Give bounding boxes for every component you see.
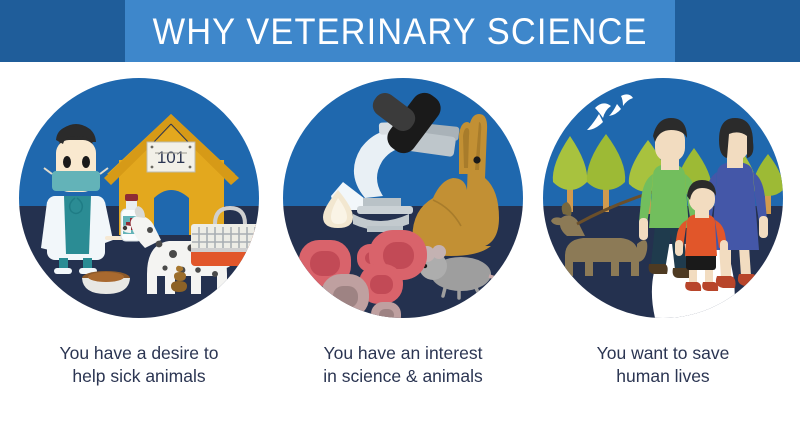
- panel-science: You have an interest in science & animal…: [272, 70, 534, 370]
- panel-desire: 101: [8, 70, 270, 370]
- caption-line-2: help sick animals: [8, 365, 270, 388]
- header-inner-band: WHY VETERINARY SCIENCE: [125, 0, 675, 62]
- blood-cell: [321, 274, 369, 318]
- panel-1-caption: You have a desire to help sick animals: [8, 342, 270, 388]
- caption-line-2: human lives: [532, 365, 794, 388]
- veterinarian-with-dog-scene: 101: [19, 78, 259, 318]
- panel-human-lives: You want to save human lives: [532, 70, 794, 370]
- caption-line-2: in science & animals: [272, 365, 534, 388]
- caption-line-1: You want to save: [532, 342, 794, 365]
- header-band: WHY VETERINARY SCIENCE: [0, 0, 800, 62]
- panel-3-illustration: [543, 78, 783, 318]
- face-mask: [52, 171, 100, 191]
- page-title: WHY VETERINARY SCIENCE: [153, 13, 648, 50]
- panel-2-caption: You have an interest in science & animal…: [272, 342, 534, 388]
- caption-line-1: You have a desire to: [8, 342, 270, 365]
- caption-line-1: You have an interest: [272, 342, 534, 365]
- sign-number: 101: [157, 148, 185, 167]
- panel-3-caption: You want to save human lives: [532, 342, 794, 388]
- blood-cell: [371, 302, 401, 328]
- microscope-laboratory-scene: [283, 78, 523, 318]
- family-walking-dog-scene: [543, 78, 783, 318]
- panels-container: 101: [0, 70, 800, 370]
- house-number-sign: 101: [147, 142, 195, 172]
- panel-2-illustration: [283, 78, 523, 318]
- panel-1-illustration: 101: [19, 78, 259, 318]
